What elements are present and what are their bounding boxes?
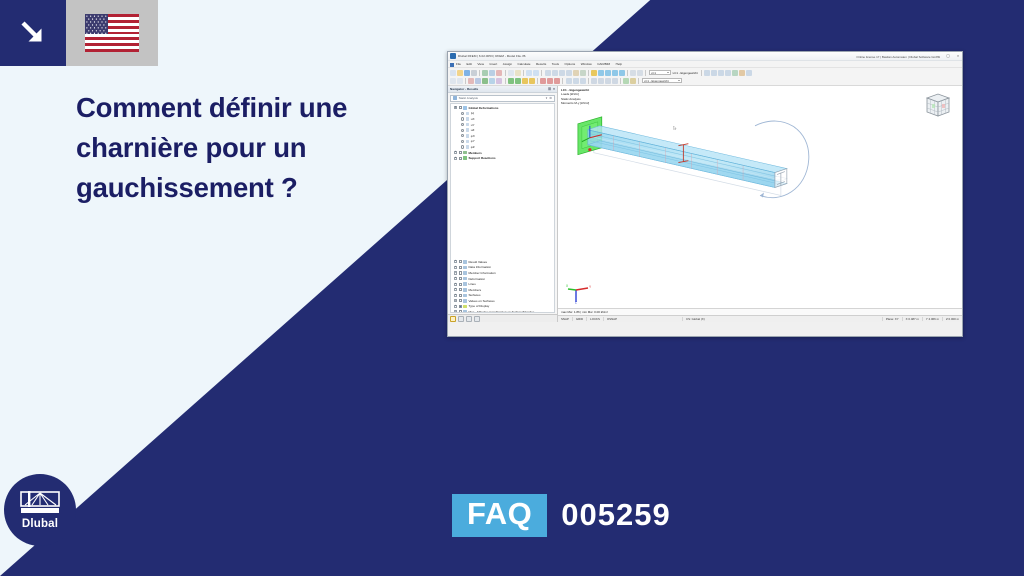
pin-icon[interactable]: ☰ [548,87,551,91]
view-side-icon[interactable] [605,78,611,84]
toolbar-separator [505,78,506,84]
import-icon[interactable] [489,70,495,76]
faq-label: FAQ [452,494,547,537]
menu-options[interactable]: Options [565,62,576,66]
member-icon [463,151,467,155]
deformation-icon [466,134,470,138]
slide-canvas: Comment définir une charnière pour un ga… [0,0,1024,576]
expander-icon[interactable]: + [454,294,457,297]
expander-icon[interactable]: + [454,283,457,286]
minimize-icon[interactable]: – [935,53,941,58]
status-snap[interactable]: SNAP [558,317,572,321]
deformation-icon [463,106,467,110]
toolbar-row-1[interactable]: LC1 LC1 - Eigengewicht [450,69,960,77]
navigator-tab-display[interactable] [458,316,464,322]
rotate-icon[interactable] [619,70,625,76]
tree-item-label: Support Reactions [468,156,495,160]
deformation-icon [463,277,467,281]
tree-item-label: uY [471,123,475,127]
toolbar-separator [645,70,646,76]
xyz-axis-icon: Y Z X [566,284,592,304]
view-iso-icon[interactable] [612,78,618,84]
expander-icon[interactable]: + [454,310,457,312]
checkbox-icon[interactable] [459,106,462,109]
deformation-icon [466,117,470,121]
expander-icon[interactable]: + [454,260,457,263]
title-bar: Dlubal RFEM | 6.02.0053 | RFEM - Model F… [448,52,962,61]
view-front-icon[interactable] [591,78,597,84]
member-hinge-icon[interactable] [522,78,528,84]
tree-item-label: Members [468,151,481,155]
surface-icon[interactable] [489,78,495,84]
checkbox-icon[interactable] [459,294,462,297]
result-combo-value: LC1 - Eigengewicht [644,79,669,83]
navigator-tab-model[interactable] [450,316,456,322]
tree-item-label: φY [471,139,475,143]
tree-spacer [451,161,554,259]
paste-icon[interactable] [515,70,521,76]
solid-icon[interactable] [496,78,502,84]
open-icon[interactable] [457,70,463,76]
status-y: Y 4.066 m [922,317,942,321]
tree-item-label: Values on Surfaces [468,299,494,303]
toolbar-separator [479,70,480,76]
loadcase-number-combo[interactable]: LC1 [649,70,671,76]
settings-icon[interactable]: ⚙ [549,96,552,100]
menu-bar[interactable]: File Edit View Insert Assign Calculate R… [448,61,962,68]
navigator-panel[interactable]: Navigator - Results ☰ × Static Analysis … [448,86,558,322]
close-icon[interactable]: × [955,53,961,58]
toolbar-separator [505,70,506,76]
menu-calculate[interactable]: Calculate [518,62,531,66]
radio-icon[interactable] [461,129,464,132]
pan-icon[interactable] [612,70,618,76]
select-icon[interactable] [450,78,456,84]
list-icon[interactable] [559,70,565,76]
member-icon[interactable] [482,78,488,84]
menu-insert[interactable]: Insert [490,62,498,66]
scale-icon[interactable] [739,70,745,76]
filter-results-icon[interactable] [732,70,738,76]
surface-icon [463,294,467,298]
license-info: Online license 17 | Basilan Automaten | … [856,55,940,59]
layers-icon[interactable] [630,78,636,84]
tree-item-label: Member Information [468,271,495,275]
loadcase-number-value: LC1 [651,71,656,75]
animate-icon[interactable] [746,70,752,76]
line-hinge-icon[interactable] [529,78,535,84]
status-bar[interactable]: SNAP GRID LOCKS OSNAP CS: Global (X) Pla… [558,315,962,322]
viewport-result-note: max Mw: 1.86 | min Mw: 0.00 kNm² [558,308,962,315]
viewport-result-note-text: max Mw: 1.86 | min Mw: 0.00 kNm² [561,310,608,314]
checkbox-icon[interactable] [459,271,462,274]
arrow-badge [0,0,66,66]
new-icon[interactable] [450,70,456,76]
tree-item-label: Surfaces [468,293,480,297]
toolbar-area[interactable]: LC1 LC1 - Eigengewicht [448,68,962,86]
undo-icon[interactable] [526,70,532,76]
expander-icon[interactable]: + [454,157,457,160]
surface-load-icon[interactable] [554,78,560,84]
toolbar-separator [588,70,589,76]
status-coordinate-system[interactable]: CS: Global (X) [682,317,708,321]
navigator-filter-value: Static Analysis [459,96,478,100]
navigator-tree[interactable]: ▾ Global Deformations |u| uX [450,103,555,313]
view-top-icon[interactable] [598,78,604,84]
language-flag-badge[interactable] [66,0,158,66]
status-osnap[interactable]: OSNAP [603,317,620,321]
tree-item-label: Deformation [468,277,485,281]
navigator-header: Navigator - Results ☰ × [448,86,557,93]
toolbar-separator [620,78,621,84]
checkbox-icon[interactable] [459,305,462,308]
menu-view[interactable]: View [477,62,484,66]
printout-icon[interactable] [496,70,502,76]
expander-icon[interactable]: + [454,299,457,302]
status-grid[interactable]: GRID [572,317,586,321]
render-icon[interactable] [630,70,636,76]
redo-icon[interactable] [533,70,539,76]
menu-cadbim[interactable]: CAD/BIM [597,62,610,66]
tree-item-label: uX [471,117,475,121]
zoom-all-icon[interactable] [598,70,604,76]
navigator-tab-views[interactable] [466,316,472,322]
report-icon[interactable] [566,70,572,76]
tree-item-label: Max - Effective Combination on Surface/M… [468,310,534,312]
svg-text:X: X [566,284,569,288]
toolbar-separator [562,78,563,84]
result-values-icon [463,260,467,264]
faq-number: 005259 [561,497,670,533]
status-locks[interactable]: LOCKS [586,317,603,321]
window-controls[interactable]: – ◻ × [935,53,961,58]
tree-item-label: Lines [468,282,475,286]
export-icon[interactable] [482,70,488,76]
status-plane: Plane: XY [882,317,902,321]
menu-edit[interactable]: Edit [467,62,472,66]
expander-icon[interactable]: + [454,271,457,274]
section-icon[interactable] [580,70,586,76]
rfem-app-icon [450,53,456,59]
menu-results[interactable]: Results [536,62,546,66]
tree-item-label: Global Deformations [468,106,498,110]
navigator-panel-controls[interactable]: ☰ × [548,87,555,91]
deformation-icon [466,123,470,127]
nodal-load-icon[interactable] [540,78,546,84]
snap-icon[interactable] [566,78,572,84]
support-icon [463,156,467,160]
grid-toggle-icon[interactable] [580,78,586,84]
close-panel-icon[interactable]: × [553,87,555,91]
window-title: Dlubal RFEM | 6.02.0053 | RFEM - Model F… [458,54,525,58]
dlubal-logo-text: Dlubal [22,518,58,530]
node-icon[interactable] [468,78,474,84]
expander-icon[interactable]: + [454,288,457,291]
result-combo[interactable]: LC1 - Eigengewicht [642,78,682,84]
radio-icon[interactable] [461,112,464,115]
radio-icon[interactable] [461,145,464,148]
member-info-icon [463,271,467,275]
results-display-icon[interactable] [711,70,717,76]
beam-model-graphic [558,86,962,321]
rfem-application-window[interactable]: Dlubal RFEM | 6.02.0053 | RFEM - Model F… [447,51,963,337]
expander-icon[interactable]: + [454,266,457,269]
loadcase-name-label: LC1 - Eigengewicht [673,71,698,75]
toolbar-separator [627,70,628,76]
max-combo-icon [463,310,467,312]
maximize-icon[interactable]: ◻ [945,53,951,58]
menu-tools[interactable]: Tools [552,62,559,66]
checkbox-icon[interactable] [459,266,462,269]
navigator-tab-results[interactable] [474,316,480,322]
svg-text:Y: Y [589,285,592,289]
values-surface-icon [463,299,467,303]
tree-item-label: uZ [471,128,475,132]
tree-item-label: φX [471,134,475,138]
svg-text:Z: Z [575,301,577,305]
checkbox-icon[interactable] [459,151,462,154]
select-window-icon[interactable] [457,78,463,84]
checkbox-icon[interactable] [459,157,462,160]
toolbar-row-2[interactable]: LC1 - Eigengewicht [450,77,960,85]
visibility-icon[interactable] [623,78,629,84]
tree-item-label: |u| [471,111,474,115]
expander-icon[interactable]: ▾ [454,106,457,109]
checkbox-icon[interactable] [459,299,462,302]
toolbar-separator [523,70,524,76]
checkbox-icon[interactable] [459,310,462,312]
display-icon [463,305,467,309]
radio-icon[interactable] [461,140,464,143]
deformation-icon [466,145,470,149]
toolbar-separator [701,70,702,76]
dlubal-truss-logo-icon [20,490,60,516]
tree-item-label: Type of Display [468,304,489,308]
checkbox-icon[interactable] [459,283,462,286]
table-icon[interactable] [545,70,551,76]
toolbar-separator [588,78,589,84]
toolbar-separator [541,70,542,76]
status-coordinates: Plane: XY X 0.487 m Y 4.066 m Z 0.000 m [882,317,962,321]
line-support-icon[interactable] [515,78,521,84]
tree-item-max-effective-combination[interactable]: + Max - Effective Combination on Surface… [451,309,554,312]
deformation-icon [466,128,470,132]
member-icon [463,288,467,292]
menu-help[interactable]: Help [616,62,622,66]
filter-icon [453,96,457,100]
calculate-icon[interactable] [591,70,597,76]
tree-item-label: Data Information [468,265,491,269]
toolbar-separator [638,78,639,84]
app-body: Navigator - Results ☰ × Static Analysis … [448,86,962,322]
arrow-down-right-icon [18,18,48,48]
toolbar-separator [465,78,466,84]
isolines-icon[interactable] [718,70,724,76]
nodal-support-icon[interactable] [508,78,514,84]
ortho-icon[interactable] [573,78,579,84]
navigator-filter[interactable]: Static Analysis ▾ ⚙ [450,95,555,102]
faq-badge: FAQ 005259 [452,494,671,537]
page-title: Comment définir une charnière pour un ga… [76,88,436,208]
chevron-down-icon[interactable]: ▾ [546,96,548,100]
expander-icon[interactable]: + [454,277,457,280]
info-icon [463,266,467,270]
material-icon[interactable] [573,70,579,76]
checkbox-icon[interactable] [459,277,462,280]
menu-file[interactable]: File [456,62,461,66]
navigator-title: Navigator - Results [450,87,478,91]
dlubal-logo: Dlubal [4,474,76,546]
deformation-display-icon[interactable] [704,70,710,76]
view-cube-icon[interactable] [920,90,956,122]
values-icon[interactable] [725,70,731,76]
toolbar-separator [537,78,538,84]
us-flag-icon [85,14,139,52]
wireframe-icon[interactable] [637,70,643,76]
radio-icon[interactable] [461,117,464,120]
filter-buttons[interactable]: ▾ ⚙ [546,96,552,100]
menu-window[interactable]: Window [581,62,592,66]
checkbox-icon[interactable] [459,260,462,263]
navigator-tabs[interactable] [448,314,557,322]
checkbox-icon[interactable] [459,288,462,291]
radio-icon[interactable] [461,134,464,137]
tree-item-label: Result Values [468,260,487,264]
status-z: Z 0.000 m [942,317,962,321]
model-viewport[interactable]: LC1 - Eigengewicht Loads [kN/m] Static A… [558,86,962,322]
zoom-window-icon[interactable] [605,70,611,76]
expander-icon[interactable]: + [454,151,457,154]
deformation-icon [466,140,470,144]
member-load-icon[interactable] [547,78,553,84]
tree-item-label: Members [468,288,481,292]
expander-icon[interactable]: + [454,305,457,308]
copy-icon[interactable] [508,70,514,76]
grid-icon[interactable] [552,70,558,76]
deformation-icon [466,112,470,116]
radio-icon[interactable] [461,123,464,126]
status-x: X 0.487 m [902,317,922,321]
save-icon[interactable] [464,70,470,76]
menu-assign[interactable]: Assign [503,62,512,66]
print-icon[interactable] [471,70,477,76]
line-icon [463,282,467,286]
tree-item-label: φZ [471,145,475,149]
line-icon[interactable] [475,78,481,84]
